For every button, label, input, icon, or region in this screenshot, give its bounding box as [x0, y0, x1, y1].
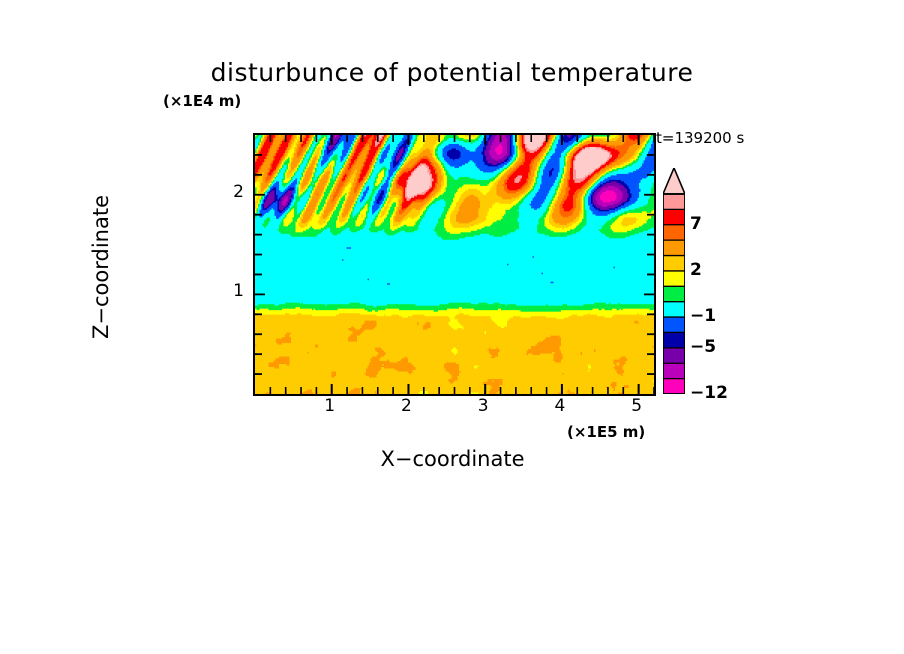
colorbar-label-m5: −5 — [690, 337, 716, 357]
x-axis-units-label: (×1E5 m) — [567, 423, 645, 441]
y-tick-label-2: 2 — [224, 182, 244, 202]
x-axis-label: X−coordinate — [253, 447, 652, 471]
x-tick-label-5: 5 — [622, 396, 652, 416]
page-title: disturbunce of potential temperature — [0, 58, 904, 87]
colorbar-label-m12: −12 — [690, 383, 728, 403]
colorbar-label-7: 7 — [690, 214, 702, 234]
x-tick-label-4: 4 — [545, 396, 575, 416]
y-axis-label: Z−coordinate — [89, 157, 113, 377]
y-tick-label-1: 1 — [224, 281, 244, 301]
time-annotation: t=139200 s — [656, 129, 744, 147]
x-tick-label-2: 2 — [391, 396, 421, 416]
colorbar-label-2: 2 — [690, 260, 702, 280]
contour-field — [255, 135, 654, 394]
title-units-label: (×1E4 m) — [163, 92, 241, 110]
colorbar-label-m1: −1 — [690, 306, 716, 326]
x-tick-label-1: 1 — [315, 396, 345, 416]
figure-canvas: disturbunce of potential temperature (×1… — [0, 0, 904, 654]
x-tick-label-3: 3 — [468, 396, 498, 416]
contour-plot — [253, 133, 656, 396]
colorbar — [663, 168, 685, 394]
